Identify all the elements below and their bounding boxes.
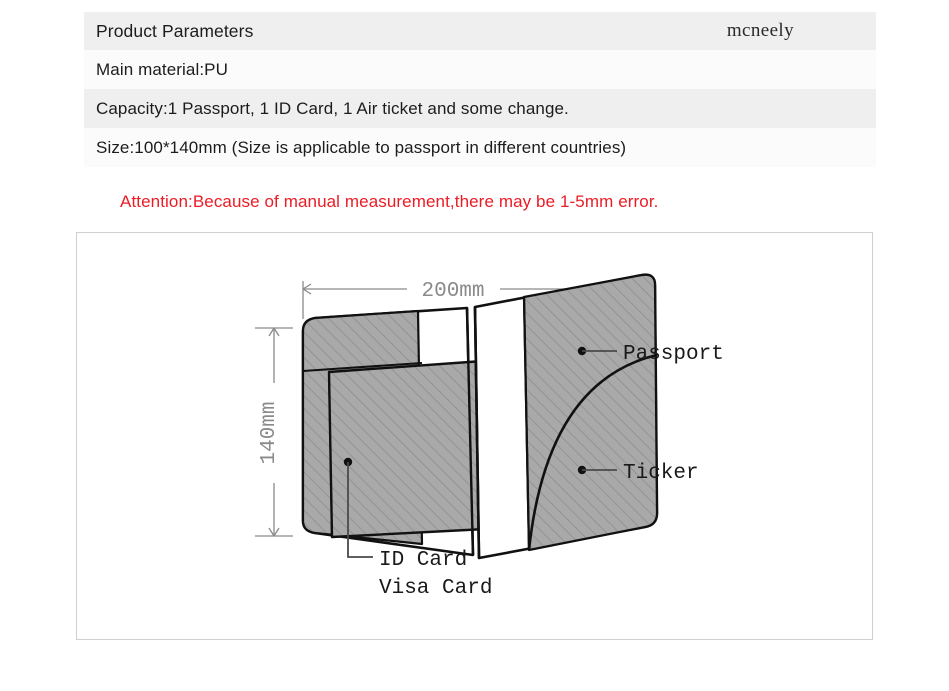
callout-label-passport: Passport: [623, 343, 724, 366]
table-row: Product Parameters mcneely: [84, 12, 876, 50]
param-material: Main material:PU: [96, 60, 228, 80]
passport-pocket: [524, 275, 657, 550]
product-parameters-table: Product Parameters mcneely Main material…: [84, 12, 876, 167]
attention-note: Attention:Because of manual measurement,…: [120, 192, 658, 212]
table-row: Size:100*140mm (Size is applicable to pa…: [84, 128, 876, 167]
wallet-illustration: [303, 275, 657, 558]
product-diagram-panel: 200mm 140mm: [76, 232, 873, 640]
dimension-height: 140mm: [255, 328, 293, 536]
param-capacity: Capacity:1 Passport, 1 ID Card, 1 Air ti…: [96, 99, 569, 119]
dimension-width-label: 200mm: [421, 280, 484, 303]
table-row: Capacity:1 Passport, 1 ID Card, 1 Air ti…: [84, 89, 876, 128]
page-title: Product Parameters: [96, 21, 253, 42]
wallet-technical-drawing: 200mm 140mm: [77, 233, 874, 641]
brand-logo: mcneely: [727, 20, 864, 42]
callout-label-visa-card: Visa Card: [379, 577, 492, 600]
table-row: Main material:PU: [84, 50, 876, 89]
callout-label-ticker: Ticker: [623, 462, 699, 485]
param-size: Size:100*140mm (Size is applicable to pa…: [96, 138, 626, 158]
callout-label-id-card: ID Card: [379, 549, 467, 572]
dimension-height-label: 140mm: [258, 401, 281, 464]
